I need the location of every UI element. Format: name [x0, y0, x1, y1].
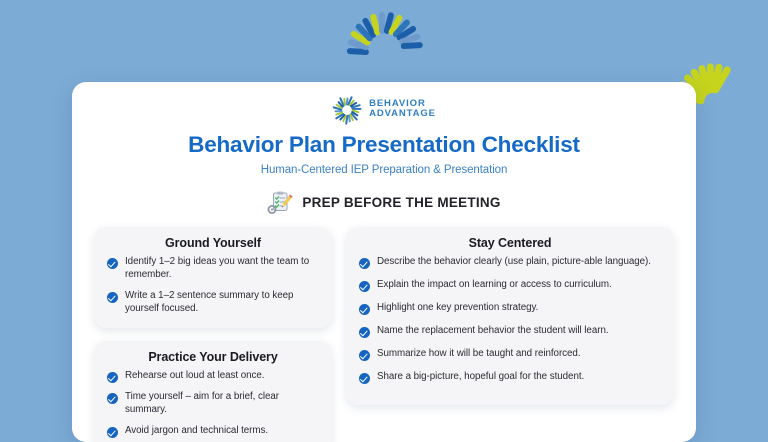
brand-wordmark: BEHAVIOR ADVANTAGE [369, 99, 436, 119]
list-item[interactable]: Share a big-picture, hopeful goal for th… [359, 371, 661, 384]
check-icon [107, 393, 118, 404]
list-item[interactable]: Write a 1–2 sentence summary to keep you… [107, 290, 319, 316]
card-title: Stay Centered [359, 236, 661, 250]
check-icon [359, 258, 370, 269]
checklist-items: Rehearse out loud at least once. Time yo… [107, 370, 319, 438]
check-icon [107, 372, 118, 383]
right-column: Stay Centered Describe the behavior clea… [346, 227, 674, 405]
list-item-label: Highlight one key prevention strategy. [377, 302, 538, 315]
check-icon [107, 292, 118, 303]
page-title: Behavior Plan Presentation Checklist [72, 133, 696, 158]
list-item-label: Name the replacement behavior the studen… [377, 325, 609, 338]
check-icon [359, 350, 370, 361]
section-title-prep: PREP BEFORE THE MEETING [302, 195, 500, 210]
list-item[interactable]: Identify 1–2 big ideas you want the team… [107, 256, 319, 282]
list-item[interactable]: Summarize how it will be taught and rein… [359, 348, 661, 361]
brand-lockup: BEHAVIOR ADVANTAGE [72, 92, 696, 126]
check-icon [359, 281, 370, 292]
list-item-label: Explain the impact on learning or access… [377, 279, 612, 292]
checklist-items: Identify 1–2 big ideas you want the team… [107, 256, 319, 316]
checklist-items: Describe the behavior clearly (use plain… [359, 256, 661, 384]
list-item-label: Rehearse out loud at least once. [125, 370, 264, 383]
list-item[interactable]: Rehearse out loud at least once. [107, 370, 319, 383]
section-header-prep: PREP BEFORE THE MEETING [72, 190, 696, 216]
check-icon [107, 258, 118, 269]
checklist-sheet: BEHAVIOR ADVANTAGE Behavior Plan Present… [72, 82, 696, 442]
radial-burst-logo-icon [332, 94, 362, 124]
check-icon [359, 327, 370, 338]
list-item-label: Share a big-picture, hopeful goal for th… [377, 371, 584, 384]
check-icon [107, 427, 118, 438]
list-item-label: Summarize how it will be taught and rein… [377, 348, 581, 361]
list-item-label: Describe the behavior clearly (use plain… [377, 256, 651, 269]
checklist-columns: Ground Yourself Identify 1–2 big ideas y… [72, 227, 696, 442]
card-title: Ground Yourself [107, 236, 319, 250]
clipboard-pencil-icon [267, 190, 293, 216]
brand-line-2: ADVANTAGE [369, 109, 436, 119]
list-item[interactable]: Time yourself – aim for a brief, clear s… [107, 391, 319, 417]
top-burst-decoration [318, 16, 452, 78]
page-subtitle: Human-Centered IEP Preparation & Present… [72, 164, 696, 176]
list-item[interactable]: Describe the behavior clearly (use plain… [359, 256, 661, 269]
list-item-label: Time yourself – aim for a brief, clear s… [125, 391, 319, 417]
list-item[interactable]: Name the replacement behavior the studen… [359, 325, 661, 338]
list-item[interactable]: Explain the impact on learning or access… [359, 279, 661, 292]
check-icon [359, 304, 370, 315]
card-ground-yourself: Ground Yourself Identify 1–2 big ideas y… [94, 227, 332, 329]
card-stay-centered: Stay Centered Describe the behavior clea… [346, 227, 674, 405]
left-column: Ground Yourself Identify 1–2 big ideas y… [94, 227, 332, 442]
list-item[interactable]: Highlight one key prevention strategy. [359, 302, 661, 315]
list-item-label: Write a 1–2 sentence summary to keep you… [125, 290, 319, 316]
check-icon [359, 373, 370, 384]
card-practice-your-delivery: Practice Your Delivery Rehearse out loud… [94, 341, 332, 442]
list-item-label: Identify 1–2 big ideas you want the team… [125, 256, 319, 282]
card-title: Practice Your Delivery [107, 350, 319, 364]
